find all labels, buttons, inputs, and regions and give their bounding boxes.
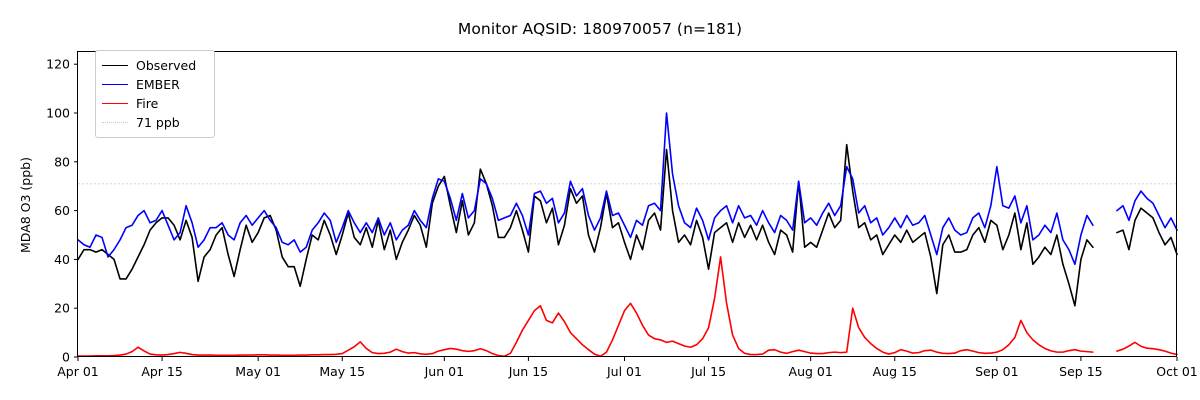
legend-item-ember: EMBER [102, 75, 207, 94]
x-tick-label: Apr 15 [141, 364, 183, 379]
legend-swatch-icon [102, 65, 128, 66]
series-line-fire [1117, 342, 1177, 354]
x-tick-label: Oct 01 [1156, 364, 1198, 379]
y-axis-title: MDA8 O3 (ppb) [18, 157, 33, 253]
y-tick-label: 40 [54, 252, 70, 267]
x-tick-label: May 15 [319, 364, 365, 379]
chart-legend: ObservedEMBERFire71 ppb [95, 50, 215, 138]
legend-label: 71 ppb [136, 113, 180, 132]
data-series-group [78, 113, 1177, 356]
series-line-observed [78, 145, 1093, 306]
series-line-ember [78, 113, 1093, 264]
x-tick-label: Jul 15 [690, 364, 726, 379]
series-line-ember [1117, 191, 1177, 230]
x-axis-ticks: Apr 01Apr 15May 01May 15Jun 01Jun 15Jul … [57, 357, 1198, 379]
legend-label: Observed [136, 56, 196, 75]
legend-swatch-icon [102, 122, 128, 123]
x-tick-label: Sep 01 [975, 364, 1018, 379]
x-tick-label: Aug 15 [873, 364, 917, 379]
y-tick-label: 100 [46, 106, 70, 121]
y-tick-label: 60 [54, 203, 70, 218]
x-tick-label: Jun 15 [508, 364, 548, 379]
y-tick-label: 120 [46, 57, 70, 72]
legend-swatch-icon [102, 84, 128, 85]
legend-label: Fire [136, 94, 158, 113]
x-tick-label: Apr 01 [57, 364, 99, 379]
series-line-fire [78, 257, 1093, 356]
y-tick-label: 80 [54, 154, 70, 169]
legend-item-observed: Observed [102, 56, 207, 75]
y-tick-label: 0 [62, 350, 70, 365]
legend-label: EMBER [136, 75, 180, 94]
x-tick-label: Jul 01 [606, 364, 642, 379]
legend-item-fire: Fire [102, 94, 207, 113]
x-tick-label: Jun 01 [424, 364, 464, 379]
x-tick-label: Sep 15 [1059, 364, 1102, 379]
legend-swatch-icon [102, 103, 128, 104]
x-tick-label: Aug 01 [789, 364, 833, 379]
y-tick-label: 20 [54, 301, 70, 316]
chart-figure: Monitor AQSID: 180970057 (n=181) 0204060… [0, 0, 1200, 400]
legend-item-71-ppb: 71 ppb [102, 113, 207, 132]
y-axis-ticks: 020406080100120 [46, 57, 78, 365]
x-tick-label: May 01 [235, 364, 281, 379]
